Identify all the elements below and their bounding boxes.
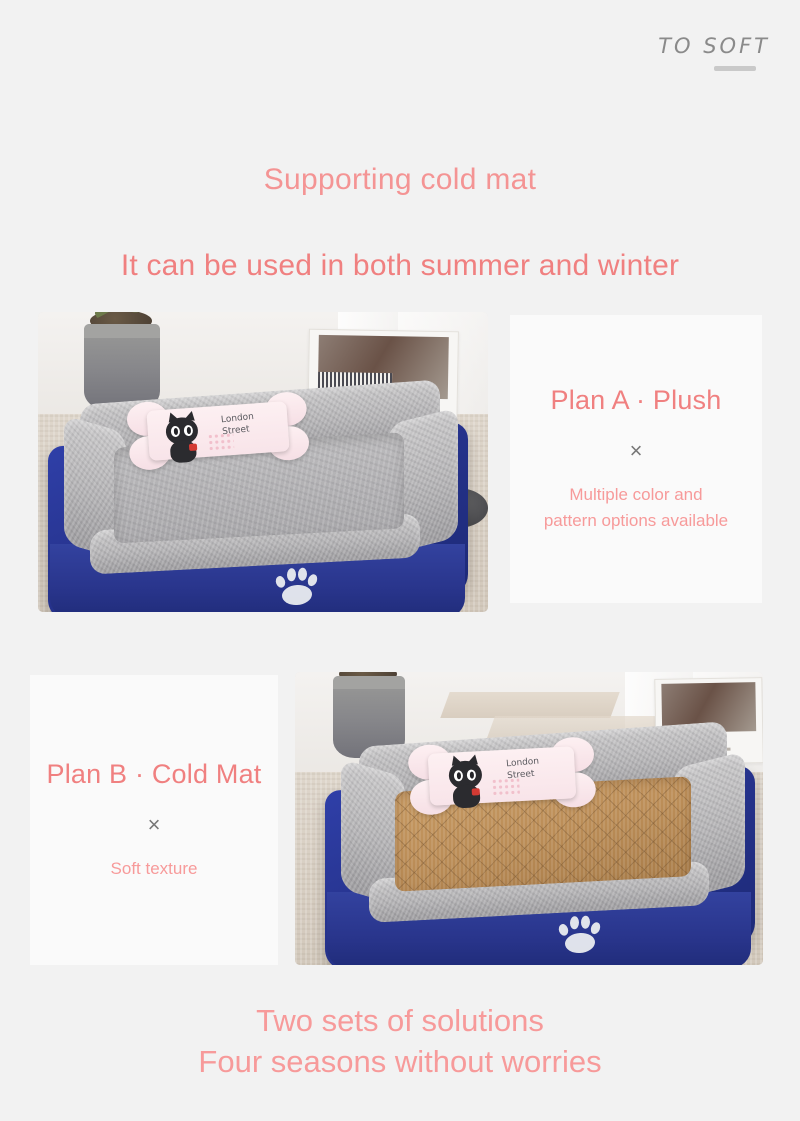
- paw-toe: [274, 575, 287, 590]
- cross-divider-icon: ×: [148, 814, 161, 836]
- photo-cold-mat-bed: London Street: [295, 672, 763, 965]
- paw-toe: [306, 573, 319, 587]
- plant-pot-rim: [84, 324, 160, 338]
- bone-pillow-text: London Street: [506, 755, 541, 782]
- photo-plush-bed: London Street: [38, 312, 488, 612]
- paw-pad: [565, 932, 595, 954]
- cat-bowtie: [472, 788, 480, 795]
- paw-toe: [581, 915, 590, 928]
- panel-b-title: Plan B · Cold Mat: [47, 759, 262, 790]
- brand-underline: [714, 66, 756, 71]
- headline-primary: Supporting cold mat: [0, 163, 800, 197]
- panel-plan-b: Plan B · Cold Mat × Soft texture: [30, 675, 278, 965]
- paw-toe: [589, 921, 602, 935]
- paw-print-logo: [557, 913, 603, 955]
- plant-pot-rim: [333, 676, 405, 689]
- bone-pillow-text: London Street: [220, 411, 255, 439]
- panel-a-title: Plan A · Plush: [551, 385, 722, 416]
- footer-tagline: Two sets of solutions Four seasons witho…: [0, 1000, 800, 1082]
- bone-pillow: London Street: [125, 386, 310, 476]
- scene-floorboard: [440, 692, 619, 718]
- tagline-line-2: Four seasons without worries: [0, 1041, 800, 1082]
- panel-a-description: Multiple color and pattern options avail…: [544, 482, 728, 534]
- cross-divider-icon: ×: [630, 440, 643, 462]
- paw-toe: [557, 923, 570, 938]
- paw-toe: [570, 916, 579, 929]
- panel-b-description: Soft texture: [111, 856, 198, 882]
- paw-pad: [282, 584, 312, 606]
- headline-secondary: It can be used in both summer and winter: [0, 249, 800, 283]
- paw-toe: [287, 568, 296, 581]
- pet-bed-cold-mat: London Street: [305, 734, 763, 965]
- bone-pillow: London Street: [407, 731, 597, 821]
- brand-name: TO SOFT: [658, 34, 770, 58]
- tagline-line-1: Two sets of solutions: [0, 1000, 800, 1041]
- panel-plan-a: Plan A · Plush × Multiple color and patt…: [510, 315, 762, 603]
- paw-print-logo: [274, 565, 320, 607]
- brand-logo: TO SOFT: [658, 34, 770, 71]
- paw-toe: [298, 567, 307, 580]
- pet-bed-plush: London Street: [38, 394, 478, 612]
- cat-bowtie: [189, 444, 197, 452]
